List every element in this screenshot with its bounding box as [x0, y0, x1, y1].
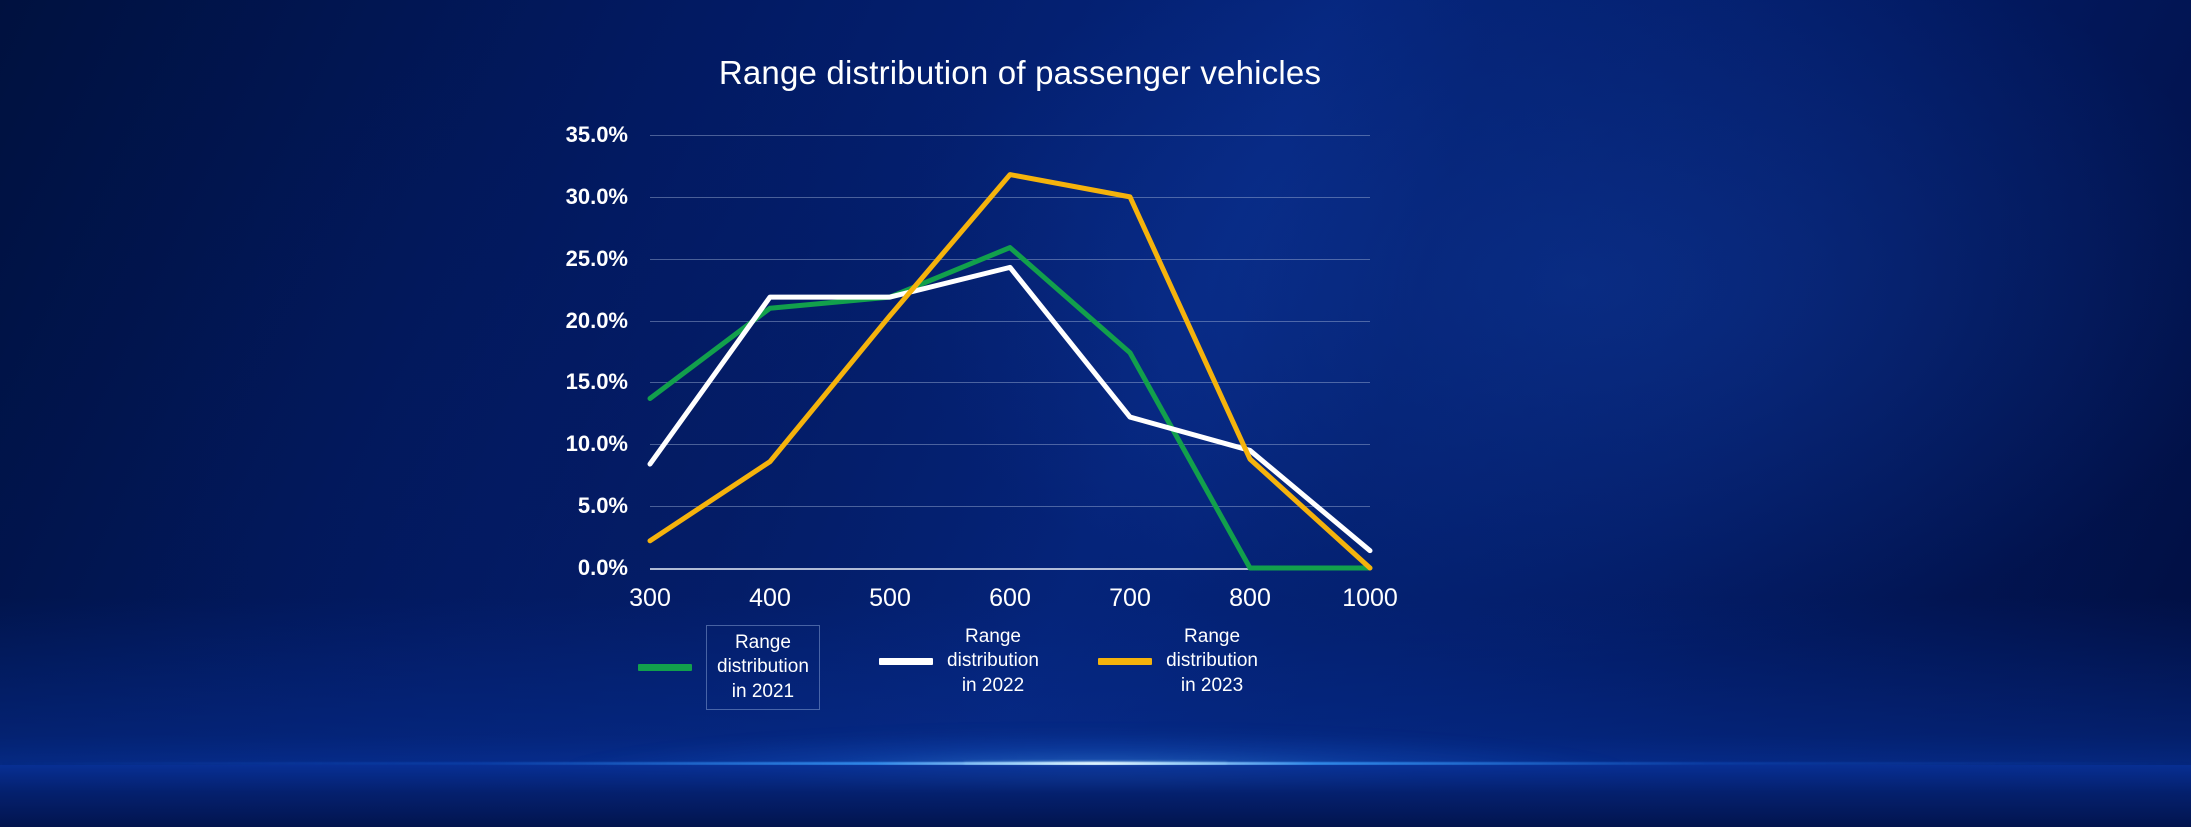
x-axis-tick-label: 600	[989, 584, 1031, 613]
series-line	[650, 248, 1370, 568]
horizon-floor	[0, 765, 2191, 827]
line-chart: Range distribution of passenger vehicles…	[520, 40, 1520, 680]
x-axis-tick-label: 800	[1229, 584, 1271, 613]
series-layer	[650, 135, 1370, 568]
legend-label: Range distribution in 2023	[1166, 625, 1258, 698]
legend-label: Range distribution in 2021	[706, 625, 820, 710]
y-axis-tick-label: 15.0%	[566, 369, 628, 395]
x-axis-tick-label: 1000	[1342, 584, 1398, 613]
x-axis-tick-label: 700	[1109, 584, 1151, 613]
legend-color-swatch	[1098, 658, 1152, 665]
legend-color-swatch	[879, 658, 933, 665]
y-axis-tick-label: 10.0%	[566, 431, 628, 457]
chart-title: Range distribution of passenger vehicles	[520, 54, 1520, 92]
y-axis-tick-label: 30.0%	[566, 184, 628, 210]
plot-area: 0.0%5.0%10.0%15.0%20.0%25.0%30.0%35.0% 3…	[650, 135, 1370, 568]
y-axis-tick-label: 0.0%	[578, 555, 628, 581]
legend-color-swatch	[638, 664, 692, 671]
x-axis-tick-label: 500	[869, 584, 911, 613]
legend-item[interactable]: Range distribution in 2022	[879, 625, 1039, 698]
legend-item[interactable]: Range distribution in 2023	[1098, 625, 1258, 698]
x-axis-tick-label: 400	[749, 584, 791, 613]
y-axis-tick-label: 35.0%	[566, 122, 628, 148]
y-axis-tick-label: 5.0%	[578, 493, 628, 519]
series-line	[650, 175, 1370, 568]
chart-legend: Range distribution in 2021Range distribu…	[638, 625, 1258, 710]
legend-item[interactable]: Range distribution in 2021	[638, 625, 820, 710]
series-line	[650, 267, 1370, 550]
legend-label: Range distribution in 2022	[947, 625, 1039, 698]
y-axis-tick-label: 20.0%	[566, 308, 628, 334]
slide-canvas: Range distribution of passenger vehicles…	[0, 0, 2191, 827]
y-axis-tick-label: 25.0%	[566, 246, 628, 272]
x-axis-tick-label: 300	[629, 584, 671, 613]
